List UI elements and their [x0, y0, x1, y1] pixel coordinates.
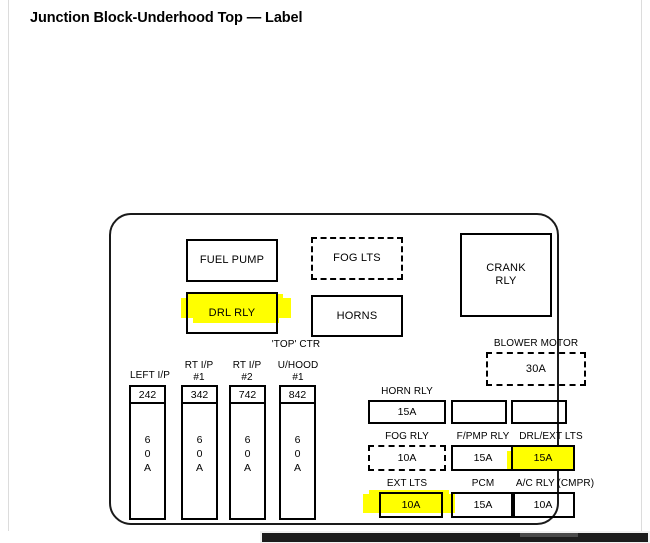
fuse-f-pmp-rly[interactable]: 15A — [451, 445, 515, 471]
relay-fog-lts-label: FOG LTS — [333, 252, 381, 265]
cartridge-caption-1-line1: RT I/P — [173, 360, 225, 372]
top-ctr-caption: 'TOP' CTR — [251, 339, 341, 350]
fuse-caption-horn-rly: HORN RLY — [365, 386, 449, 397]
fuse-blower-motor[interactable]: 30A — [486, 352, 586, 386]
fuse-f-pmp-rly-rating: 15A — [474, 452, 493, 464]
cartridge-fuse-caption-rt-ip-1: RT I/P #1 — [173, 360, 225, 384]
relay-drl-rly-label: DRL RLY — [209, 307, 256, 320]
cartridge-fuse-rt-ip-1[interactable]: 342 6 0 A — [181, 385, 218, 520]
horizontal-scrollbar-thumb[interactable] — [262, 533, 648, 542]
fuse-caption-drl-ext-lts: DRL/EXT LTS — [501, 431, 601, 442]
fuse-ac-rly-cmpr-rating: 10A — [534, 499, 553, 511]
fuse-caption-ext-lts: EXT LTS — [365, 478, 449, 489]
fuse-pcm-rating: 15A — [474, 499, 493, 511]
relay-fog-lts[interactable]: FOG LTS — [311, 237, 403, 280]
amp-digit-3-3: A — [281, 462, 314, 476]
amp-digit-1-1: 6 — [183, 434, 216, 448]
amp-digit-0-1: 6 — [131, 434, 164, 448]
fuse-ext-lts-rating: 10A — [402, 499, 421, 511]
cartridge-fuse-left-ip-rating: 6 0 A — [131, 434, 164, 476]
cartridge-fuse-rt-ip-2[interactable]: 742 6 0 A — [229, 385, 266, 520]
cartridge-fuse-uhood-1-number: 842 — [281, 387, 314, 404]
fuse-horn-rly-rating: 15A — [398, 406, 417, 418]
amp-digit-1-2: 0 — [183, 448, 216, 462]
amp-digit-1-3: A — [183, 462, 216, 476]
amp-digit-2-1: 6 — [231, 434, 264, 448]
cartridge-caption-3-line1: U/HOOD — [268, 360, 328, 372]
relay-horns[interactable]: HORNS — [311, 295, 403, 337]
cartridge-fuse-uhood-1-rating: 6 0 A — [281, 434, 314, 476]
fuse-unlabeled-2[interactable] — [511, 400, 567, 424]
fuse-pcm[interactable]: 15A — [451, 492, 515, 518]
relay-crank-rly-label-line1: CRANK — [486, 262, 526, 275]
amp-digit-0-3: A — [131, 462, 164, 476]
cartridge-fuse-left-ip[interactable]: 242 6 0 A — [129, 385, 166, 520]
fuse-drl-ext-lts[interactable]: 15A — [511, 445, 575, 471]
page-title: Junction Block-Underhood Top — Label — [30, 10, 302, 26]
fuse-horn-rly[interactable]: 15A — [368, 400, 446, 424]
cartridge-caption-2-line2: #2 — [221, 372, 273, 384]
relay-drl-rly[interactable]: DRL RLY — [186, 292, 278, 334]
amp-digit-0-2: 0 — [131, 448, 164, 462]
relay-fuel-pump[interactable]: FUEL PUMP — [186, 239, 278, 282]
cartridge-fuse-caption-uhood-1: U/HOOD #1 — [268, 360, 328, 384]
fuse-ext-lts[interactable]: 10A — [379, 492, 443, 518]
cartridge-fuse-rt-ip-1-rating: 6 0 A — [183, 434, 216, 476]
cartridge-fuse-rt-ip-2-rating: 6 0 A — [231, 434, 264, 476]
relay-horns-label: HORNS — [337, 310, 378, 323]
amp-digit-3-1: 6 — [281, 434, 314, 448]
page-frame: Junction Block-Underhood Top — Label FUE… — [8, 0, 642, 531]
horizontal-scrollbar-thumb-highlight — [520, 533, 578, 537]
cartridge-caption-0-line1: LEFT I/P — [130, 370, 170, 381]
fuse-blower-motor-rating: 30A — [526, 363, 546, 376]
fuse-drl-ext-lts-rating: 15A — [534, 452, 553, 464]
cartridge-caption-1-line2: #1 — [173, 372, 225, 384]
fuse-fog-rly-rating: 10A — [398, 452, 417, 464]
fuse-unlabeled-1[interactable] — [451, 400, 507, 424]
cartridge-caption-2-line1: RT I/P — [221, 360, 273, 372]
amp-digit-2-2: 0 — [231, 448, 264, 462]
amp-digit-2-3: A — [231, 462, 264, 476]
cartridge-fuse-left-ip-number: 242 — [131, 387, 164, 404]
cartridge-fuse-uhood-1[interactable]: 842 6 0 A — [279, 385, 316, 520]
relay-crank-rly-label-line2: RLY — [495, 275, 516, 288]
amp-digit-3-2: 0 — [281, 448, 314, 462]
cartridge-fuse-rt-ip-2-number: 742 — [231, 387, 264, 404]
relay-fuel-pump-label: FUEL PUMP — [200, 254, 264, 267]
fuse-block-diagram: FUEL PUMP FOG LTS DRL RLY HORNS CRANK RL… — [109, 213, 559, 525]
cartridge-fuse-rt-ip-1-number: 342 — [183, 387, 216, 404]
fuse-fog-rly[interactable]: 10A — [368, 445, 446, 471]
cartridge-fuse-caption-rt-ip-2: RT I/P #2 — [221, 360, 273, 384]
cartridge-caption-3-line2: #1 — [268, 372, 328, 384]
fuse-caption-ac-rly-cmpr: A/C RLY (CMPR) — [501, 478, 609, 489]
fuse-ac-rly-cmpr[interactable]: 10A — [511, 492, 575, 518]
blower-motor-caption: BLOWER MOTOR — [476, 338, 596, 349]
relay-crank-rly[interactable]: CRANK RLY — [460, 233, 552, 317]
